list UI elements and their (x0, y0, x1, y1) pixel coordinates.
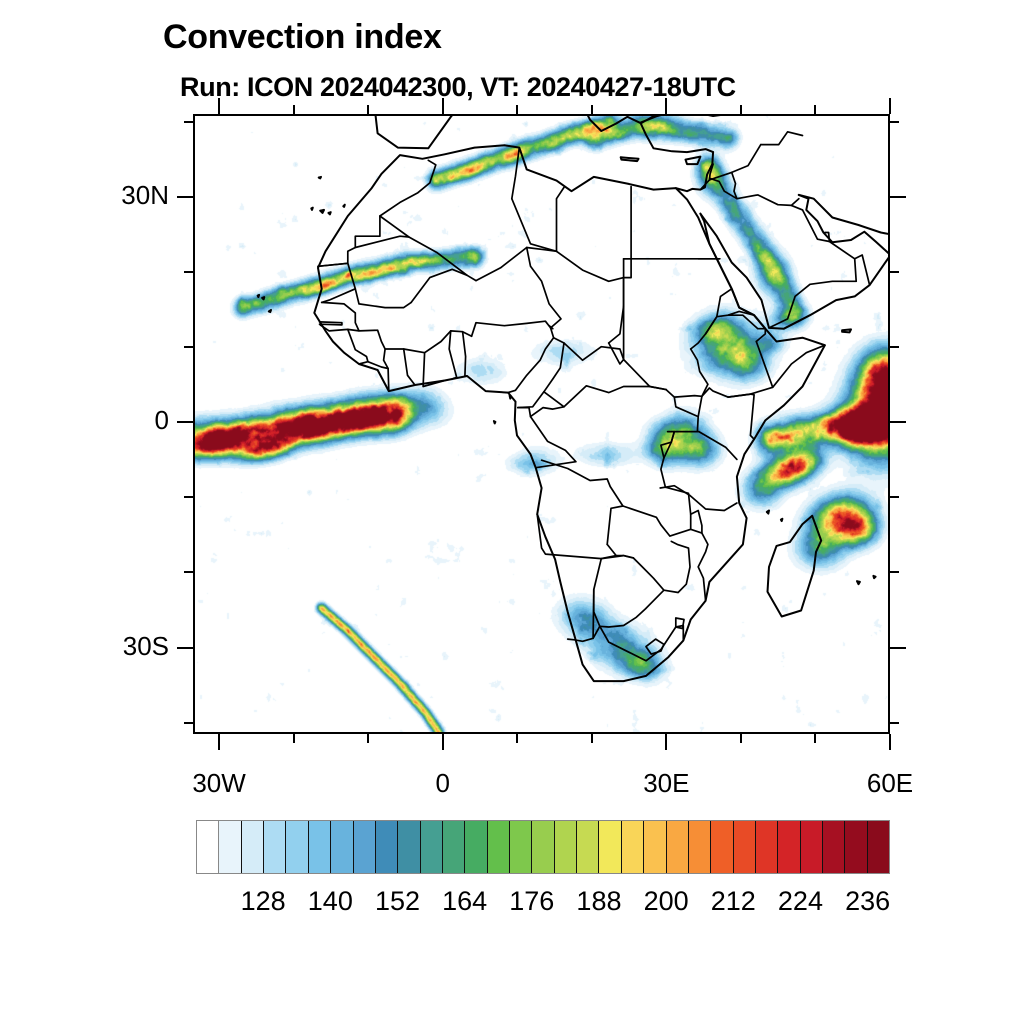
colorbar-cell (644, 821, 666, 873)
colorbar-cell (443, 821, 465, 873)
map-outline (768, 516, 822, 617)
map-outline (518, 343, 564, 408)
colorbar-cell (465, 821, 487, 873)
map-outline (449, 331, 457, 378)
map-outline (624, 259, 720, 306)
x-major-tick (218, 734, 220, 750)
map-outline (510, 396, 512, 399)
map-outline (756, 342, 772, 388)
map-outline (710, 178, 737, 198)
map-outline (518, 407, 564, 417)
run-info-subtitle: Run: ICON 2024042300, VT: 20240427-18UTC (180, 72, 736, 103)
map-outline (311, 208, 313, 210)
colorbar-cell (331, 821, 353, 873)
page-title: Convection index (163, 18, 442, 57)
y-minor-tick-right (890, 346, 899, 348)
x-minor-tick-top (516, 105, 518, 114)
map-outline (319, 177, 321, 179)
x-minor-tick (367, 734, 369, 743)
y-minor-tick-right (890, 722, 899, 724)
colorbar-cell (801, 821, 823, 873)
map-outline (380, 216, 476, 281)
y-minor-tick (184, 121, 193, 123)
map-outline (355, 236, 409, 247)
y-minor-tick (184, 571, 193, 573)
colorbar-cell (577, 821, 599, 873)
colorbar-cell (622, 821, 644, 873)
colorbar-cell (421, 821, 443, 873)
map-outline (781, 519, 783, 521)
map-outline (691, 529, 708, 600)
x-minor-tick-top (367, 105, 369, 114)
map-outline (343, 205, 345, 207)
x-minor-tick (591, 734, 593, 743)
x-major-tick (665, 734, 667, 750)
figure-root: Convection index Run: ICON 2024042300, V… (0, 0, 1024, 1024)
map-outline (842, 329, 851, 332)
colorbar-tick-label: 236 (823, 886, 913, 917)
map-outline (700, 195, 890, 329)
map-outline (262, 297, 264, 299)
map-outline (542, 460, 623, 544)
y-minor-tick-right (890, 496, 899, 498)
x-minor-tick-top (740, 105, 742, 114)
map-outline (666, 390, 698, 417)
y-minor-tick-right (890, 571, 899, 573)
y-minor-tick (184, 496, 193, 498)
map-outline (544, 386, 666, 407)
map-outline (512, 199, 557, 252)
colorbar-cell (286, 821, 308, 873)
colorbar-cell (219, 821, 241, 873)
map-outline (769, 205, 856, 328)
colorbar-cell (868, 821, 889, 873)
y-major-tick-right (890, 421, 906, 423)
map-outline (537, 514, 616, 558)
map-outline (674, 396, 702, 398)
map-outline (697, 388, 754, 439)
x-axis-label-30W: 30W (149, 768, 289, 799)
coastlines-and-borders-overlay (195, 116, 890, 734)
map-outline (767, 511, 769, 514)
map-outline (624, 306, 667, 390)
y-axis-label-30S: 30S (123, 631, 169, 662)
colorbar[interactable] (196, 820, 890, 874)
map-outline (318, 263, 411, 307)
map-outline (320, 322, 342, 325)
map-outline (531, 417, 576, 468)
x-axis-label-30E: 30E (596, 768, 736, 799)
x-minor-tick (293, 734, 295, 743)
map-outline (633, 541, 690, 592)
map-outline (411, 269, 467, 302)
colorbar-cell (488, 821, 510, 873)
x-major-tick-top (665, 98, 667, 114)
x-major-tick (889, 734, 891, 750)
map-outline (732, 172, 799, 205)
y-major-tick-right (890, 196, 906, 198)
y-major-tick (177, 647, 193, 649)
y-minor-tick-right (890, 271, 899, 273)
map-outline (646, 639, 664, 654)
colorbar-cell (555, 821, 577, 873)
colorbar-cell (510, 821, 532, 873)
colorbar-cell (711, 821, 733, 873)
colorbar-cell (309, 821, 331, 873)
x-axis-label-60E: 60E (820, 768, 960, 799)
map-outline (709, 145, 760, 180)
x-minor-tick (516, 734, 518, 743)
map-outline (700, 214, 765, 329)
map-outline (508, 328, 553, 393)
y-minor-tick-right (890, 121, 899, 123)
map-outline (623, 487, 691, 536)
map-outline (557, 187, 565, 251)
map-outline (624, 259, 632, 278)
colorbar-cell (599, 821, 621, 873)
map-outline (472, 321, 551, 336)
colorbar-cell (667, 821, 689, 873)
map-outline (385, 331, 472, 353)
x-major-tick-top (442, 98, 444, 114)
map-outline (568, 590, 594, 642)
colorbar-cell (197, 821, 219, 873)
x-minor-tick (814, 734, 816, 743)
map-outline (512, 148, 520, 199)
map-outline (494, 421, 496, 423)
colorbar-cell (734, 821, 756, 873)
colorbar-cell (264, 821, 286, 873)
map-outline (686, 157, 701, 165)
colorbar-cell (756, 821, 778, 873)
map-outline (641, 124, 713, 153)
map-outline (404, 349, 415, 385)
map-outline (691, 289, 732, 349)
colorbar-cell (376, 821, 398, 873)
map-outline (374, 116, 736, 148)
map-outline (320, 210, 324, 213)
colorbar-cell (398, 821, 420, 873)
x-minor-tick-top (293, 105, 295, 114)
y-axis-label-0: 0 (155, 405, 169, 436)
map-outline (761, 132, 803, 145)
colorbar-cell (778, 821, 800, 873)
colorbar-cell (354, 821, 376, 873)
map-outline (527, 248, 561, 328)
map-outline (661, 458, 666, 487)
y-major-tick (177, 196, 193, 198)
map-outline (664, 432, 737, 460)
map-outline (320, 302, 359, 331)
y-minor-tick (184, 271, 193, 273)
y-major-tick-right (890, 647, 906, 649)
colorbar-cell (532, 821, 554, 873)
map-outline (318, 216, 380, 266)
map-outline (554, 338, 624, 364)
map-outline (380, 160, 436, 216)
map-outline (463, 332, 468, 376)
map-outline (328, 212, 330, 214)
y-minor-tick (184, 722, 193, 724)
map-outline (557, 251, 624, 343)
map-outline (322, 289, 356, 303)
colorbar-cell (823, 821, 845, 873)
colorbar-cell (845, 821, 867, 873)
map-outline (756, 329, 765, 342)
x-major-tick-top (889, 98, 891, 114)
y-minor-tick (184, 346, 193, 348)
y-axis-label-30N: 30N (121, 180, 169, 211)
map-outline (269, 310, 271, 312)
x-minor-tick (740, 734, 742, 743)
map-outline (258, 295, 260, 297)
map-outline (873, 576, 875, 578)
x-minor-tick-top (591, 105, 593, 114)
map-outline (594, 556, 664, 627)
x-axis-label-0: 0 (373, 768, 513, 799)
map-plot-area[interactable] (193, 114, 890, 734)
map-outline (621, 157, 639, 161)
map-outline (314, 145, 825, 681)
y-major-tick (177, 421, 193, 423)
map-outline (668, 432, 675, 443)
map-outline (641, 116, 654, 124)
colorbar-cell (242, 821, 264, 873)
map-outline (593, 626, 600, 638)
map-outline (857, 581, 860, 584)
x-major-tick-top (218, 98, 220, 114)
map-outline (691, 349, 708, 396)
map-outline (476, 248, 557, 281)
x-major-tick (442, 734, 444, 750)
x-minor-tick-top (814, 105, 816, 114)
colorbar-cell (689, 821, 711, 873)
